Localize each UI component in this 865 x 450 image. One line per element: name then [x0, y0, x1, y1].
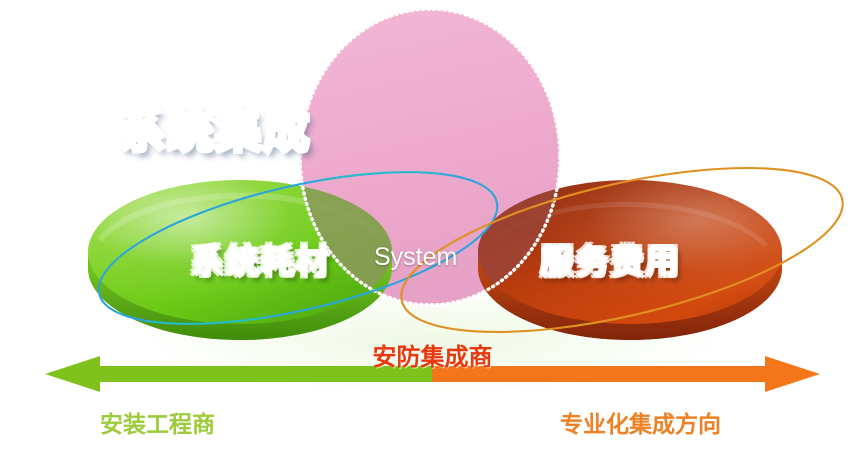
system-integration-title-outline: 系统集成: [0, 95, 430, 161]
diagram-svg: [0, 0, 865, 450]
center-overlap-label: System: [374, 243, 457, 272]
axis-left-caption: 安装工程商: [100, 405, 215, 439]
disc-label-consumables: 系统耗材: [190, 234, 330, 283]
axis-center-label: 安防集成商: [0, 337, 865, 372]
diagram-canvas: 系统集成 系统集成 系统耗材 服务费用 System 安防集成商 安装工程商 专…: [0, 0, 865, 450]
disc-label-service-fee: 服务费用: [540, 234, 680, 283]
axis-right-caption: 专业化集成方向: [560, 405, 721, 439]
